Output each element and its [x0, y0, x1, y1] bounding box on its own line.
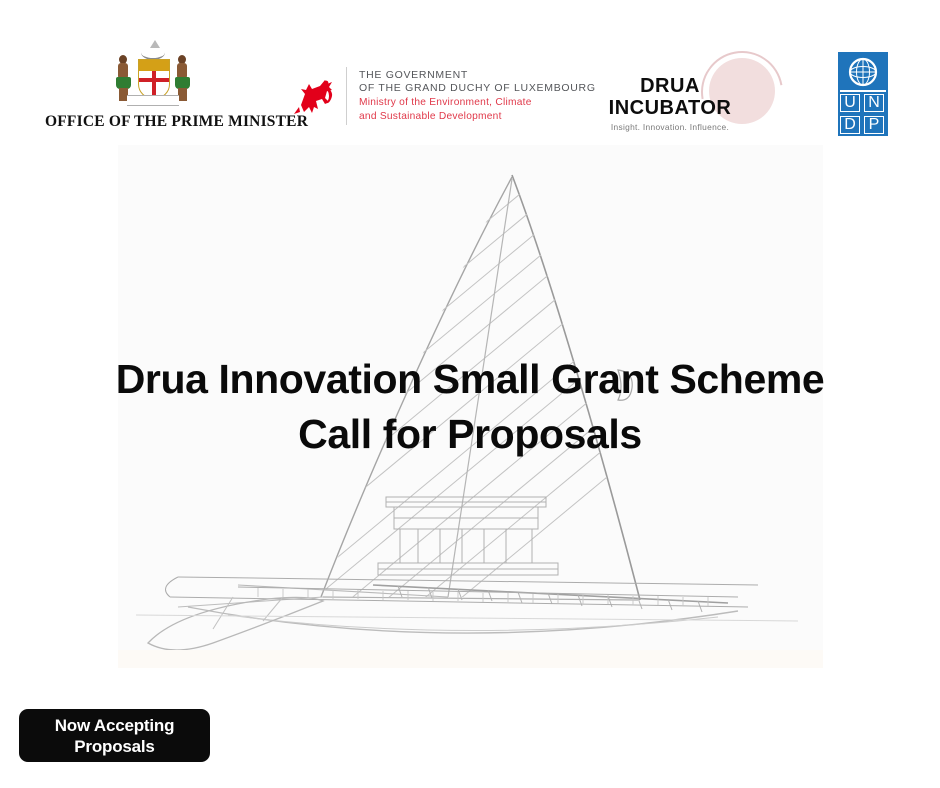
drua-wordmark: DRUA INCUBATOR Insight. Innovation. Infl…: [590, 76, 750, 132]
luxembourg-line-1: THE GOVERNMENT: [359, 69, 596, 83]
luxembourg-line-3: Ministry of the Environment, Climate: [359, 96, 596, 110]
luxembourg-red-lion-icon: [292, 71, 338, 121]
undp-letter-n: N: [864, 94, 886, 114]
logo-government-of-luxembourg: THE GOVERNMENT OF THE GRAND DUCHY OF LUX…: [292, 57, 577, 135]
fiji-coat-of-arms-icon: [111, 45, 195, 109]
undp-letter-p: P: [864, 116, 886, 136]
luxembourg-line-2: OF THE GRAND DUCHY OF LUXEMBOURG: [359, 82, 596, 96]
crest-canoe-icon: [141, 45, 165, 60]
crest-shield-icon: [138, 59, 170, 99]
poster-root: OFFICE OF THE PRIME MINISTER THE GOVERNM…: [0, 0, 940, 788]
badge-line-2: Proposals: [74, 736, 154, 757]
status-badge-now-accepting-proposals[interactable]: Now Accepting Proposals: [19, 709, 210, 762]
undp-letter-grid: U N D P: [840, 92, 886, 134]
logo-drua-incubator: DRUA INCUBATOR Insight. Innovation. Infl…: [590, 50, 785, 142]
luxembourg-line-4: and Sustainable Development: [359, 110, 596, 124]
opm-caption: OFFICE OF THE PRIME MINISTER: [45, 113, 260, 131]
undp-letter-u: U: [840, 94, 862, 114]
title-line-2: Call for Proposals: [0, 407, 940, 462]
logo-undp: U N D P: [838, 52, 888, 136]
title-line-1: Drua Innovation Small Grant Scheme: [0, 352, 940, 407]
partner-logo-bar: OFFICE OF THE PRIME MINISTER THE GOVERNM…: [0, 0, 940, 145]
luxembourg-text-block: THE GOVERNMENT OF THE GRAND DUCHY OF LUX…: [359, 69, 596, 123]
logo-office-of-the-prime-minister: OFFICE OF THE PRIME MINISTER: [45, 45, 260, 135]
drua-tagline: Insight. Innovation. Influence.: [590, 122, 750, 132]
page-title: Drua Innovation Small Grant Scheme Call …: [0, 352, 940, 462]
crest-motto-scroll-icon: [127, 95, 179, 106]
un-globe-icon: [840, 54, 886, 92]
drua-word-two: INCUBATOR: [590, 98, 750, 118]
logo-divider: [346, 67, 347, 125]
drua-word-one: DRUA: [590, 76, 750, 96]
panel-base-band: [118, 650, 823, 668]
badge-line-1: Now Accepting: [55, 715, 175, 736]
undp-letter-d: D: [840, 116, 862, 136]
